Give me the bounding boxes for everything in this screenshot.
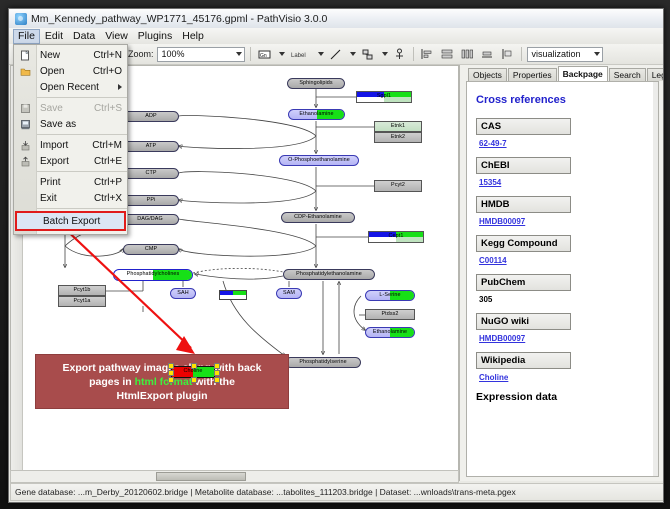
group-icon[interactable] [499, 46, 516, 63]
node-label: Etnk2 [391, 135, 405, 140]
pemt-blue-fill [220, 291, 233, 295]
node-label: Phosphatidylethanolamine [296, 272, 362, 277]
toolbar-divider-3 [521, 47, 522, 61]
menu-item-import[interactable]: Import Ctrl+M [14, 137, 127, 153]
node-dag[interactable]: DAG/DAG [121, 214, 179, 225]
interaction-tool-icon[interactable] [359, 46, 376, 63]
xref-link-hmdb[interactable]: HMDB00097 [479, 217, 525, 226]
node-label: Pcyt1b [73, 288, 90, 293]
menu-item-shortcut: Ctrl+E [94, 156, 127, 167]
expression-data-heading: Expression data [476, 391, 653, 403]
node-label: Etnk1 [391, 124, 405, 129]
menu-item-new[interactable]: New Ctrl+N [14, 47, 127, 63]
node-label: Ptdss2 [381, 312, 398, 317]
menu-item-print[interactable]: Print Ctrl+P [14, 174, 127, 190]
batch-export-highlight: Batch Export [15, 211, 126, 231]
menu-item-shortcut: Ctrl+M [92, 140, 127, 151]
xref-label-cas: CAS [476, 118, 571, 135]
node-sphingolipids[interactable]: Sphingolipids [287, 78, 345, 89]
node-cdp-ethanolamine[interactable]: CDP-Ethanolamine [281, 212, 355, 223]
node-label: SAM [283, 291, 295, 296]
xref-value-chebi: 15354 [479, 178, 653, 187]
title-bar: Mm_Kennedy_pathway_WP1771_45176.gpml - P… [9, 9, 663, 29]
chevron-down-icon-2 [594, 52, 600, 56]
scrollbar-thumb[interactable] [156, 472, 246, 481]
import-icon [14, 140, 36, 151]
node-pcyt1b[interactable]: Pcyt1b [58, 285, 106, 296]
node-pemt-box[interactable] [219, 290, 247, 300]
svg-text:Label: Label [291, 53, 306, 59]
node-atp[interactable]: ATP [123, 141, 179, 152]
toolbar-divider [250, 47, 251, 61]
callout-banner: Export pathway images along with back pa… [35, 354, 289, 409]
xref-label-kegg: Kegg Compound [476, 235, 571, 252]
backpage-panel: Cross references CAS 62-49-7 ChEBI 15354… [466, 81, 659, 477]
xref-link-kegg[interactable]: C00114 [479, 256, 507, 265]
node-label: ADP [145, 114, 156, 119]
window-title: Mm_Kennedy_pathway_WP1771_45176.gpml - P… [31, 13, 327, 25]
xref-value-kegg: C00114 [479, 256, 653, 265]
datanode-dropdown-icon[interactable] [279, 52, 285, 56]
menu-item-label: Batch Export [39, 216, 124, 227]
node-l-serine[interactable]: L-Serine [365, 290, 415, 301]
node-label: SAH [177, 291, 188, 296]
xref-value-wikipedia: Choline [479, 373, 653, 382]
node-ethanolamine[interactable]: Ethanolamine [288, 109, 345, 120]
node-etnk2[interactable]: Etnk2 [374, 132, 422, 143]
file-menu-dropdown[interactable]: New Ctrl+N Open Ctrl+O Open Recent Save … [13, 44, 128, 235]
menu-item-label: New [36, 50, 93, 61]
menu-item-open-recent[interactable]: Open Recent [14, 79, 127, 95]
menu-item-shortcut: Ctrl+N [93, 50, 127, 61]
node-phosphatidylethanolamine[interactable]: Phosphatidylethanolamine [283, 269, 375, 280]
node-phosphatidylcholines[interactable]: Phosphatidylcholines [113, 269, 193, 281]
pathvisio-window: Mm_Kennedy_pathway_WP1771_45176.gpml - P… [8, 8, 664, 503]
pemt-green-fill [233, 291, 246, 295]
menu-item-save[interactable]: Save Ctrl+S [14, 100, 127, 116]
visualization-value: visualization [532, 49, 581, 59]
side-panel-tabs: Objects Properties Backpage Search Legen… [460, 67, 664, 81]
xref-label-hmdb: HMDB [476, 196, 571, 213]
menu-item-shortcut: Ctrl+S [94, 103, 127, 114]
line-dropdown-icon[interactable] [350, 52, 356, 56]
node-sah[interactable]: SAH [170, 288, 196, 299]
toolbar-divider-2 [413, 47, 414, 61]
zoom-value: 100% [162, 49, 185, 59]
node-label: Ethanolamine [373, 330, 407, 335]
node-choline-bottom-selection[interactable]: Choline [171, 366, 215, 378]
node-label: L-Serine [379, 293, 400, 298]
xref-value-hmdb: HMDB00097 [479, 217, 653, 226]
datanode-tool-icon[interactable]: Gn [256, 46, 273, 63]
menu-item-shortcut: Ctrl+P [94, 177, 127, 188]
banner-line-1: Export pathway images along with back [63, 361, 262, 375]
node-label: Choline [184, 369, 203, 374]
menu-item-label: Open [36, 66, 93, 77]
menu-item-export[interactable]: Export Ctrl+E [14, 153, 127, 169]
menu-item-label: Open Recent [36, 82, 118, 93]
node-label: DAG/DAG [137, 217, 163, 222]
node-o-phosphoethanolamine[interactable]: O-Phosphoethanolamine [279, 155, 359, 166]
node-label: O-Phosphoethanolamine [288, 158, 350, 163]
xref-label-wikipedia: Wikipedia [476, 352, 571, 369]
node-pcyt2[interactable]: Pcyt2 [374, 180, 422, 192]
node-label: Sphingolipids [299, 81, 332, 86]
distribute-icon[interactable] [459, 46, 476, 63]
folder-icon [14, 66, 36, 77]
xref-label-nugo: NuGO wiki [476, 313, 571, 330]
node-label: Pcyt2 [391, 183, 405, 188]
menu-item-label: Import [36, 140, 92, 151]
save-as-icon [14, 119, 36, 130]
xref-link-nugo[interactable]: HMDB00097 [479, 334, 525, 343]
stack-icon[interactable] [479, 46, 496, 63]
xref-value-pubchem: 305 [479, 295, 653, 304]
node-cmp[interactable]: CMP [123, 244, 179, 255]
backpage-content: Cross references CAS 62-49-7 ChEBI 15354… [467, 82, 653, 476]
submenu-arrow-icon [118, 84, 122, 90]
cross-references-heading: Cross references [476, 94, 653, 106]
node-label: Pcyt1a [73, 299, 90, 304]
new-file-icon [14, 50, 36, 61]
node-ptdss2[interactable]: Ptdss2 [365, 309, 415, 320]
align-center-icon[interactable] [439, 46, 456, 63]
menu-item-save-as[interactable]: Save as [14, 116, 127, 132]
node-cept1[interactable]: Cept1 [368, 231, 424, 243]
xref-value-cas: 62-49-7 [479, 139, 653, 148]
node-label: Phosphatidylserine [299, 360, 346, 365]
menu-item-shortcut: Ctrl+O [93, 66, 127, 77]
label-dropdown-icon[interactable] [318, 52, 324, 56]
menu-help[interactable]: Help [177, 29, 209, 44]
node-ethanolamine-2[interactable]: Ethanolamine [365, 327, 415, 338]
status-text: Gene database: ...m_Derby_20120602.bridg… [15, 487, 516, 497]
side-panel: Objects Properties Backpage Search Legen… [459, 65, 663, 481]
xref-link-chebi[interactable]: 15354 [479, 178, 501, 187]
xref-label-chebi: ChEBI [476, 157, 571, 174]
node-label: Phosphatidylcholines [127, 272, 180, 277]
node-etnk1[interactable]: Etnk1 [374, 121, 422, 132]
chevron-down-icon [236, 52, 242, 56]
pathvisio-icon [15, 13, 27, 25]
node-label: CMP [145, 247, 157, 252]
menu-item-label: Save [36, 103, 94, 114]
menu-edit[interactable]: Edit [40, 29, 68, 44]
visualization-combo[interactable]: visualization [527, 47, 603, 62]
node-phosphatidylserine[interactable]: Phosphatidylserine [285, 357, 361, 368]
zoom-combo[interactable]: 100% [157, 47, 245, 62]
tab-search[interactable]: Search [609, 68, 646, 81]
menu-item-label: Save as [36, 119, 122, 130]
menu-divider-3 [36, 171, 127, 172]
menu-view[interactable]: View [100, 29, 133, 44]
label-tool-icon[interactable]: Label [288, 46, 312, 63]
status-bar: Gene database: ...m_Derby_20120602.bridg… [10, 483, 664, 501]
zoom-label: Zoom: [128, 49, 154, 59]
menu-item-shortcut: Ctrl+X [94, 193, 127, 204]
screenshot-frame: Mm_Kennedy_pathway_WP1771_45176.gpml - P… [0, 0, 670, 509]
tab-objects[interactable]: Objects [468, 68, 507, 81]
node-label: CTP [145, 171, 156, 176]
line-tool-icon[interactable] [327, 46, 344, 63]
node-ppi[interactable]: PPi [123, 195, 179, 206]
node-label: PPi [147, 198, 156, 203]
save-icon [14, 103, 36, 114]
node-label: ATP [146, 144, 156, 149]
menu-item-batch-export[interactable]: Batch Export [17, 213, 124, 229]
node-sam[interactable]: SAM [276, 288, 302, 299]
menu-divider-2 [36, 134, 127, 135]
backpage-vertical-scrollbar[interactable] [653, 82, 658, 476]
align-left-icon[interactable] [419, 46, 436, 63]
svg-text:Gn: Gn [260, 53, 267, 59]
xref-value-nugo: HMDB00097 [479, 334, 653, 343]
menu-item-label: Exit [36, 193, 94, 204]
menu-data[interactable]: Data [68, 29, 100, 44]
menu-bar: File Edit Data View Plugins Help [9, 28, 664, 45]
xref-link-wikipedia[interactable]: Choline [479, 373, 508, 382]
menu-divider-4 [36, 208, 127, 209]
menu-item-label: Export [36, 156, 94, 167]
menu-file[interactable]: File [13, 29, 40, 44]
node-label: CDP-Ethanolamine [294, 215, 342, 220]
node-pcyt1a[interactable]: Pcyt1a [58, 296, 106, 307]
menu-item-open[interactable]: Open Ctrl+O [14, 63, 127, 79]
node-ctp[interactable]: CTP [123, 168, 179, 179]
interaction-dropdown-icon[interactable] [382, 52, 388, 56]
canvas-horizontal-scrollbar[interactable] [10, 470, 459, 483]
anchor-tool-icon[interactable] [391, 46, 408, 63]
tab-legend[interactable]: Legend [647, 68, 664, 81]
node-sgpl1[interactable]: Sgpl1 [356, 91, 412, 103]
banner-line-3: HtmlExport plugin [117, 389, 208, 403]
node-label: Cept1 [389, 234, 404, 239]
node-adp[interactable]: ADP [123, 111, 179, 122]
banner-line-2a: pages in [89, 376, 135, 388]
node-label: Ethanolamine [299, 112, 333, 117]
menu-item-label: Print [36, 177, 94, 188]
menu-item-exit[interactable]: Exit Ctrl+X [14, 190, 127, 206]
export-icon [14, 156, 36, 167]
menu-divider-1 [36, 97, 127, 98]
tab-backpage[interactable]: Backpage [558, 66, 608, 81]
tab-properties[interactable]: Properties [508, 68, 557, 81]
node-label: Sgpl1 [377, 94, 391, 99]
xref-label-pubchem: PubChem [476, 274, 571, 291]
menu-plugins[interactable]: Plugins [133, 29, 177, 44]
xref-link-cas[interactable]: 62-49-7 [479, 139, 507, 148]
